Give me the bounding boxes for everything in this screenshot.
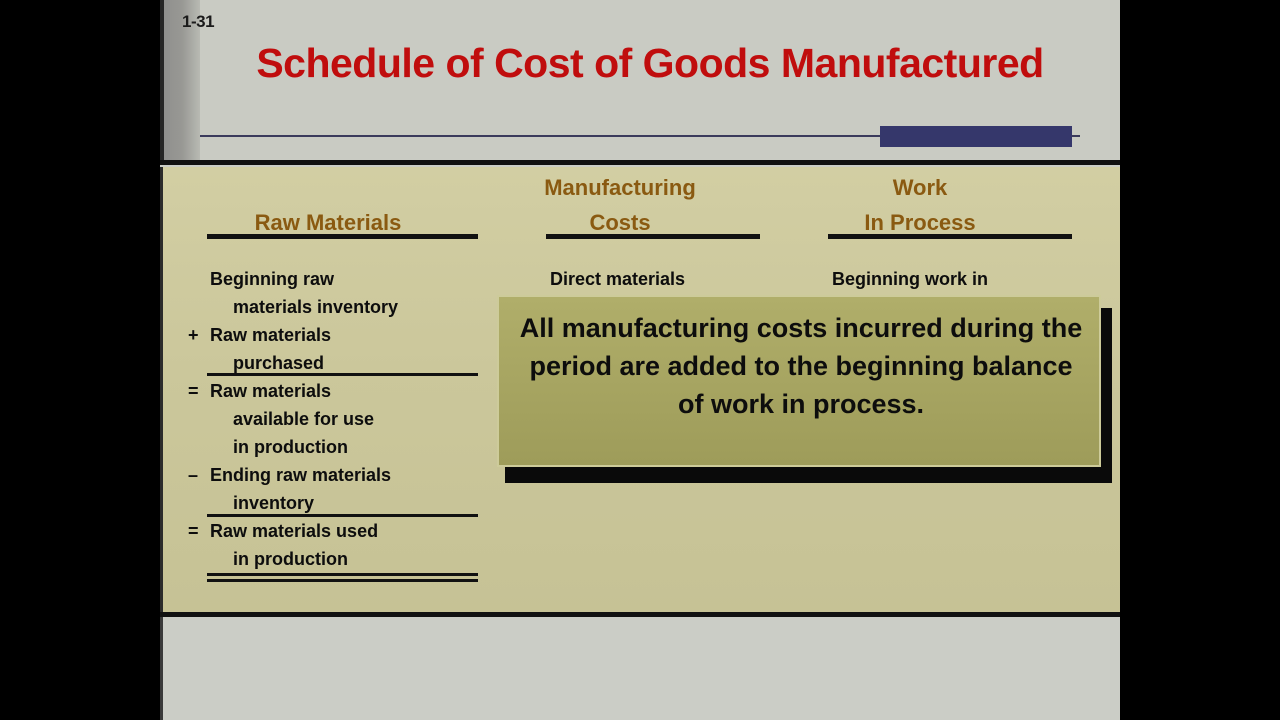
list-item-label: available for use [233, 405, 374, 433]
operator: = [188, 517, 206, 545]
list-item-label: in production [233, 433, 348, 461]
operator: = [188, 377, 206, 405]
header-bottom-border [160, 160, 1120, 165]
callout-text: All manufacturing costs incurred during … [515, 309, 1087, 423]
header-left-dark-edge [160, 0, 164, 160]
list-item-label: Raw materials used [210, 517, 378, 545]
footer-left-edge [160, 617, 163, 720]
list-item-label: Ending raw materials [210, 461, 391, 489]
callout-box: All manufacturing costs incurred during … [497, 295, 1101, 467]
list-item-label: Raw materials [210, 377, 331, 405]
list-item-label: in production [233, 545, 348, 573]
list-item-label: Beginning raw [210, 265, 334, 293]
page-title: Schedule of Cost of Goods Manufactured [200, 40, 1100, 87]
title-accent-bar [880, 126, 1072, 147]
total-double-rule-raw-materials [207, 573, 478, 576]
operator: + [188, 321, 206, 349]
column-heading-rule-manufacturing-costs [546, 234, 760, 239]
slide-footer [160, 617, 1120, 720]
column-heading-work: Work [770, 170, 1070, 205]
subtotal-rule-raw-materials-available [207, 373, 478, 376]
list-item-label: inventory [233, 489, 314, 517]
list-item-label: Direct materials [550, 265, 685, 293]
column-heading-manufacturing: Manufacturing [490, 170, 750, 205]
slide-number: 1-31 [182, 12, 214, 32]
operator: – [188, 461, 206, 489]
list-item-label: Beginning work in [832, 265, 988, 293]
list-item-label: Raw materials [210, 321, 331, 349]
column-heading-rule-work-in-process [828, 234, 1072, 239]
list-item-label: materials inventory [233, 293, 398, 321]
presentation-slide: 1-31 Schedule of Cost of Goods Manufactu… [160, 0, 1120, 720]
column-heading-rule-raw-materials [207, 234, 478, 239]
panel-left-edge [160, 167, 163, 616]
screenshot-stage: 1-31 Schedule of Cost of Goods Manufactu… [0, 0, 1280, 720]
